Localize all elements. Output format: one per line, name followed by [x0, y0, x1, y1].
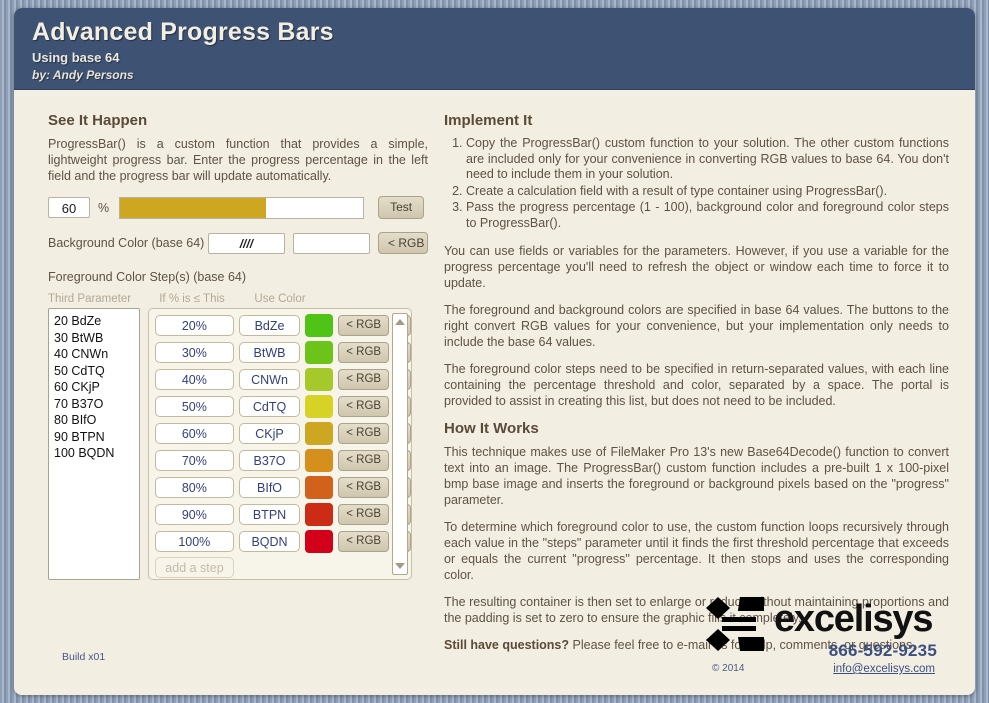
step-row: 100%BQDN< RGB-	[155, 530, 411, 553]
see-it-happen-heading: See It Happen	[48, 112, 428, 129]
step-row: 80%BIfO< RGB-	[155, 476, 411, 499]
percent-input[interactable]: 60	[48, 197, 90, 218]
steps-portal: 20%BdZe< RGB-30%BtWB< RGB-40%CNWn< RGB-5…	[148, 308, 412, 580]
step-row: 60%CKjP< RGB-	[155, 422, 411, 445]
how-it-works-para-1: This technique makes use of FileMaker Pr…	[444, 444, 949, 508]
page-title: Advanced Progress Bars	[32, 18, 975, 46]
questions-lead: Still have questions?	[444, 638, 569, 652]
third-parameter-line: 20 BdZe	[54, 313, 139, 330]
step-threshold-input[interactable]: 60%	[155, 423, 234, 444]
column-header-use-color: Use Color	[240, 293, 320, 305]
step-row: 40%CNWn< RGB-	[155, 368, 411, 391]
see-it-happen-intro: ProgressBar() is a custom function that …	[48, 136, 428, 184]
step-threshold-input[interactable]: 100%	[155, 531, 234, 552]
steps-portal-rows: 20%BdZe< RGB-30%BtWB< RGB-40%CNWn< RGB-5…	[155, 314, 411, 553]
background-color-label: Background Color (base 64)	[48, 236, 208, 250]
step-rgb-convert-button[interactable]: < RGB	[338, 396, 389, 417]
step-base64-input[interactable]: B37O	[239, 450, 301, 471]
third-parameter-line: 40 CNWn	[54, 346, 139, 363]
step-rgb-convert-button[interactable]: < RGB	[338, 477, 389, 498]
step-threshold-input[interactable]: 40%	[155, 369, 234, 390]
portal-scrollbar[interactable]	[392, 313, 408, 575]
step-threshold-input[interactable]: 20%	[155, 315, 234, 336]
foreground-steps-label: Foreground Color Step(s) (base 64)	[48, 270, 428, 284]
brand-email-link[interactable]: info@excelisys.com	[833, 663, 935, 675]
brand-name: excelisys	[774, 599, 932, 639]
brand-phone: 866-592-9235	[829, 641, 937, 661]
implement-para-2: The foreground and background colors are…	[444, 302, 949, 350]
steps-area: 20 BdZe30 BtWB40 CNWn50 CdTQ60 CKjP70 B3…	[48, 308, 428, 580]
background-rgb-input[interactable]	[293, 233, 370, 254]
how-it-works-para-2: To determine which foreground color to u…	[444, 519, 949, 583]
step-color-swatch	[305, 368, 333, 391]
add-step-input[interactable]: add a step	[155, 557, 234, 578]
background-color-row: Background Color (base 64) //// < RGB	[48, 232, 428, 254]
step-rgb-convert-button[interactable]: < RGB	[338, 531, 389, 552]
scroll-up-arrow-icon[interactable]	[393, 315, 407, 329]
column-headers: Third Parameter If % is ≤ This Use Color	[48, 293, 428, 305]
step-color-swatch	[305, 449, 333, 472]
step-row: 50%CdTQ< RGB-	[155, 395, 411, 418]
step-threshold-input[interactable]: 90%	[155, 504, 234, 525]
content-area: See It Happen ProgressBar() is a custom …	[14, 90, 975, 695]
step-base64-input[interactable]: CNWn	[239, 369, 301, 390]
step-threshold-input[interactable]: 30%	[155, 342, 234, 363]
third-parameter-line: 60 CKjP	[54, 379, 139, 396]
test-button[interactable]: Test	[378, 196, 424, 219]
build-label: Build x01	[62, 651, 105, 663]
implement-step-item: Create a calculation field with a result…	[466, 184, 949, 200]
step-base64-input[interactable]: BIfO	[239, 477, 301, 498]
implement-it-heading: Implement It	[444, 112, 949, 129]
docs-panel: Implement It Copy the ProgressBar() cust…	[444, 112, 949, 664]
scroll-down-arrow-icon[interactable]	[393, 559, 407, 573]
implement-steps-list: Copy the ProgressBar() custom function t…	[444, 136, 949, 231]
how-it-works-heading: How It Works	[444, 420, 949, 437]
progress-bar-fill	[120, 198, 266, 218]
page-subtitle: Using base 64	[32, 50, 975, 65]
step-color-swatch	[305, 422, 333, 445]
demo-panel: See It Happen ProgressBar() is a custom …	[48, 112, 428, 580]
step-rgb-convert-button[interactable]: < RGB	[338, 450, 389, 471]
step-color-swatch	[305, 314, 333, 337]
step-color-swatch	[305, 341, 333, 364]
brand-block: excelisys 866-592-9235 info@excelisys.co…	[704, 595, 939, 677]
step-rgb-convert-button[interactable]: < RGB	[338, 369, 389, 390]
progress-bar	[119, 197, 364, 219]
step-base64-input[interactable]: CKjP	[239, 423, 301, 444]
implement-step-item: Copy the ProgressBar() custom function t…	[466, 136, 949, 183]
column-header-third-parameter: Third Parameter	[48, 293, 144, 305]
step-row: 70%B37O< RGB-	[155, 449, 411, 472]
percent-sign-label: %	[98, 201, 109, 215]
progress-row: 60 % Test	[48, 196, 428, 219]
step-row: 90%BTPN< RGB-	[155, 503, 411, 526]
background-rgb-convert-button[interactable]: < RGB	[378, 232, 428, 254]
step-color-swatch	[305, 530, 333, 553]
step-base64-input[interactable]: BQDN	[239, 531, 301, 552]
third-parameter-line: 80 BIfO	[54, 412, 139, 429]
step-row: 20%BdZe< RGB-	[155, 314, 411, 337]
step-rgb-convert-button[interactable]: < RGB	[338, 504, 389, 525]
third-parameter-line: 90 BTPN	[54, 429, 139, 446]
step-base64-input[interactable]: CdTQ	[239, 396, 301, 417]
step-rgb-convert-button[interactable]: < RGB	[338, 423, 389, 444]
step-base64-input[interactable]: BTPN	[239, 504, 301, 525]
step-color-swatch	[305, 395, 333, 418]
step-threshold-input[interactable]: 70%	[155, 450, 234, 471]
step-rgb-convert-button[interactable]: < RGB	[338, 315, 389, 336]
step-rgb-convert-button[interactable]: < RGB	[338, 342, 389, 363]
copyright-label: © 2014	[712, 663, 744, 674]
third-parameter-line: 100 BQDN	[54, 445, 139, 462]
step-base64-input[interactable]: BtWB	[239, 342, 301, 363]
excelisys-logo-icon	[704, 595, 766, 653]
page-author: by: Andy Persons	[32, 68, 975, 82]
step-color-swatch	[305, 476, 333, 499]
third-parameter-line: 30 BtWB	[54, 330, 139, 347]
step-color-swatch	[305, 503, 333, 526]
third-parameter-list[interactable]: 20 BdZe30 BtWB40 CNWn50 CdTQ60 CKjP70 B3…	[48, 308, 140, 580]
step-row: 30%BtWB< RGB-	[155, 341, 411, 364]
step-threshold-input[interactable]: 80%	[155, 477, 234, 498]
step-threshold-input[interactable]: 50%	[155, 396, 234, 417]
third-parameter-line: 50 CdTQ	[54, 363, 139, 380]
app-window: Advanced Progress Bars Using base 64 by:…	[14, 8, 975, 695]
implement-step-item: Pass the progress percentage (1 - 100), …	[466, 200, 949, 231]
background-base64-input[interactable]: ////	[208, 233, 285, 254]
implement-para-1: You can use fields or variables for the …	[444, 243, 949, 291]
step-base64-input[interactable]: BdZe	[239, 315, 301, 336]
implement-para-3: The foreground color steps need to be sp…	[444, 361, 949, 409]
column-header-if-percent: If % is ≤ This	[144, 293, 240, 305]
title-bar: Advanced Progress Bars Using base 64 by:…	[14, 8, 975, 90]
third-parameter-line: 70 B37O	[54, 396, 139, 413]
